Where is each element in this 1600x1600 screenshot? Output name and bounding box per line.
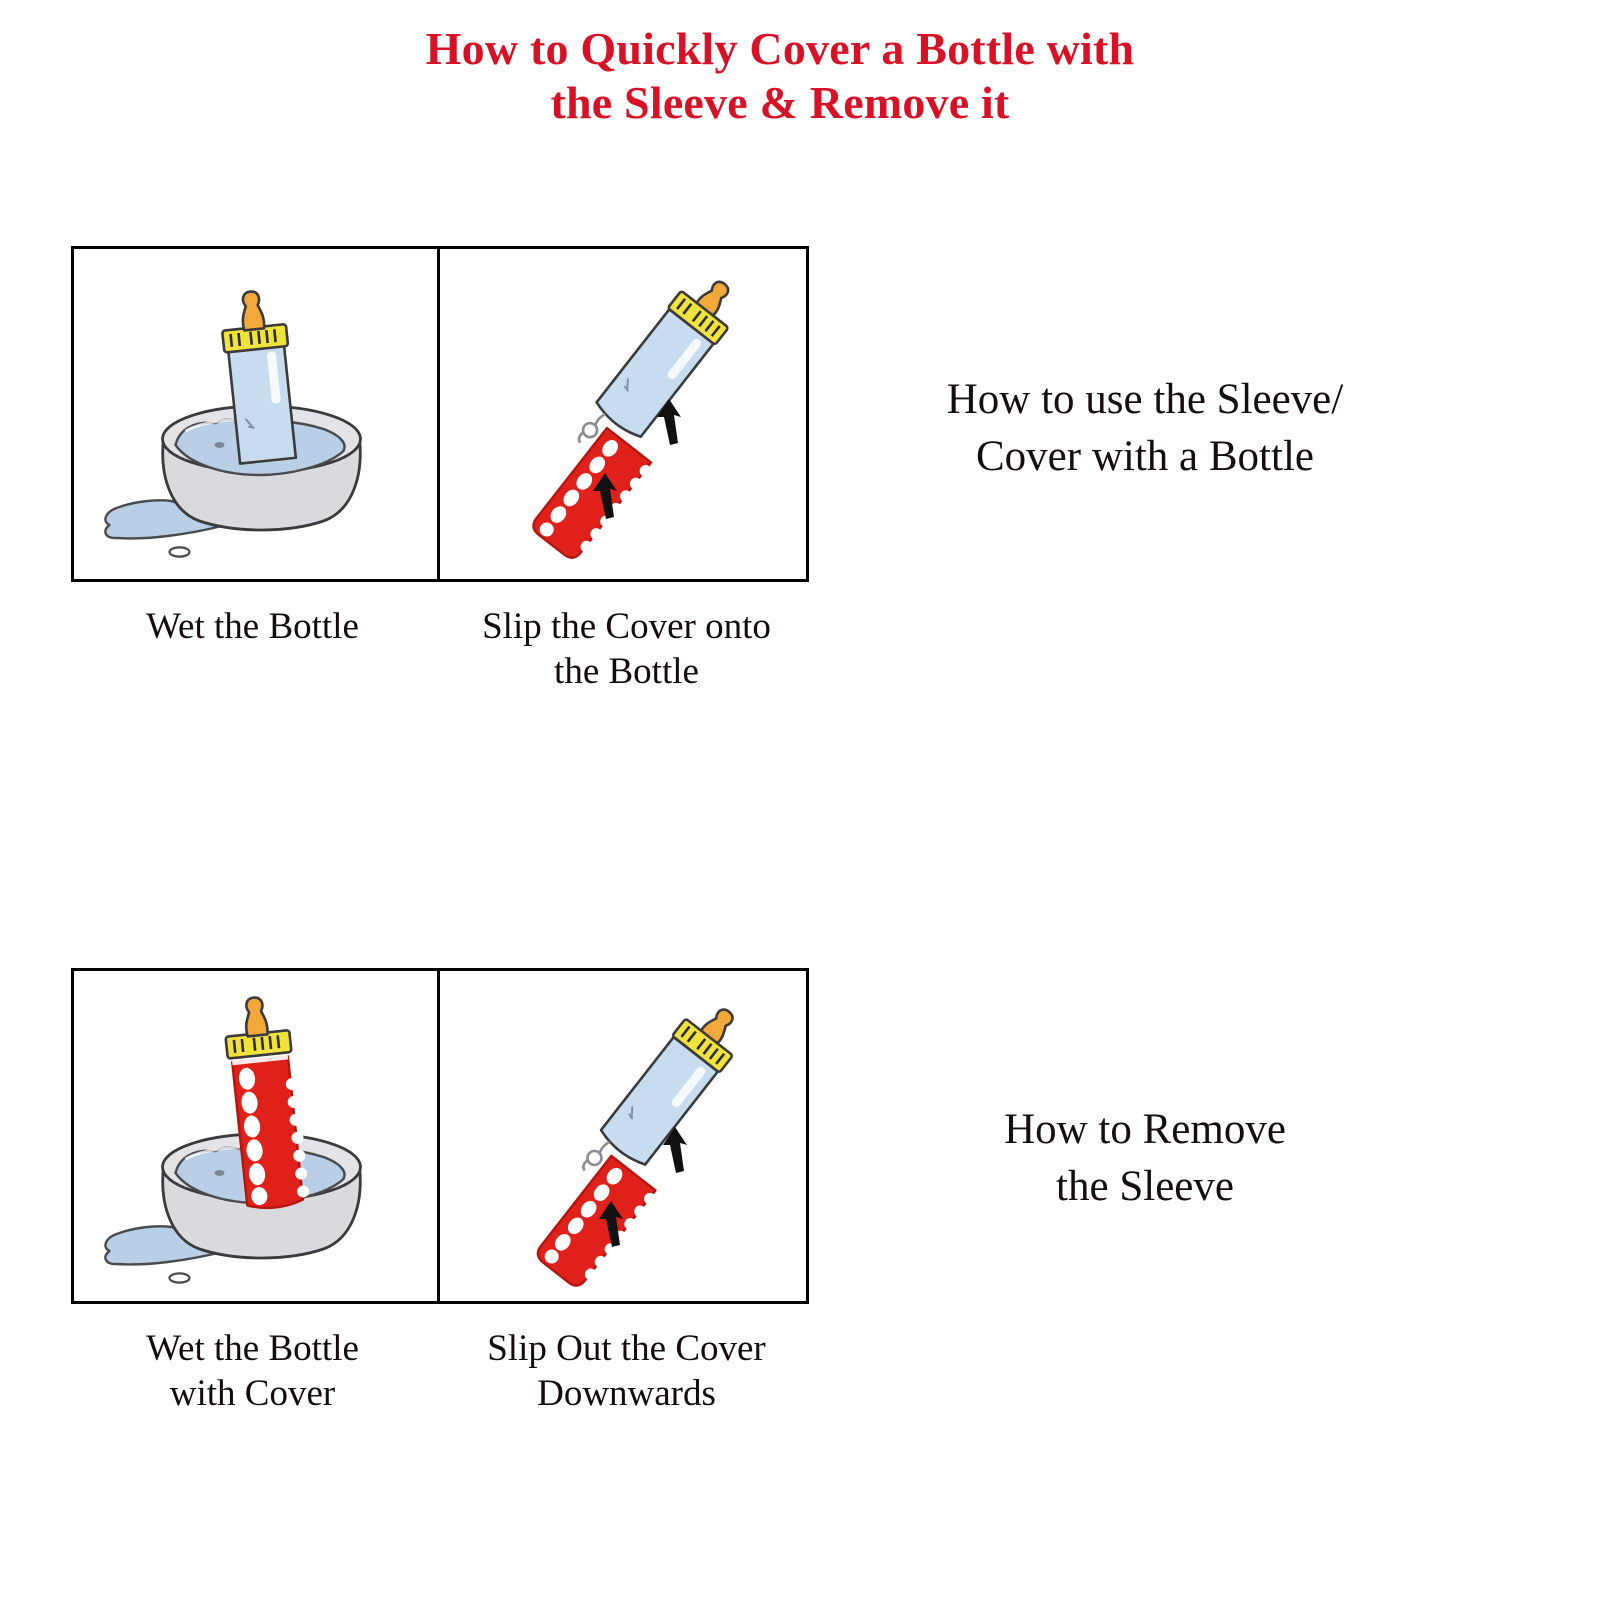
section-heading-line-1: How to Remove [905,1102,1385,1159]
caption-line-2: with Cover [71,1371,434,1416]
panel-wet-the-bottle [74,249,440,579]
water-droplet [170,547,190,556]
tilted-bottle-group [509,266,771,567]
bottle-nipple [243,997,268,1037]
caption-line-1: Slip the Cover onto [444,604,809,649]
caption-row-remove-sleeve: Wet the Bottle with Cover Slip Out the C… [71,1326,809,1416]
panel-slip-cover-on [440,249,806,579]
panel-frame-remove-sleeve [71,968,809,1304]
caption-slip-cover-out: Slip Out the Cover Downwards [440,1326,809,1416]
section-heading-remove-sleeve: How to Remove the Sleeve [905,1102,1385,1216]
caption-wet-the-bottle: Wet the Bottle [71,604,440,694]
illustration-tilted-bottle-with-sleeve-arrows-up [440,249,806,579]
panel-frame-use-sleeve [71,246,809,582]
bottle-body [228,344,296,463]
red-sleeve [529,428,656,566]
illustration-sleeved-bottle-in-water-bowl [74,971,437,1301]
section-heading-line-1: How to use the Sleeve/ [865,372,1425,429]
sleeve-body [534,1156,656,1290]
caption-line-1: Wet the Bottle [71,604,434,649]
water-droplet [170,1273,190,1282]
page-title: How to Quickly Cover a Bottle with the S… [0,22,1560,131]
panel-wet-bottle-with-cover [74,971,440,1301]
section-heading-line-2: Cover with a Bottle [865,429,1425,486]
sleeve-body [529,428,651,562]
section-heading-line-2: the Sleeve [905,1159,1385,1216]
caption-line-2: the Bottle [444,649,809,694]
page-title-line-1: How to Quickly Cover a Bottle with [0,22,1560,76]
bowl-speck-left [215,1170,225,1176]
bottle-nipple [240,290,265,330]
figure-block-remove-sleeve: Wet the Bottle with Cover Slip Out the C… [71,968,809,1416]
panel-slip-cover-out [440,971,806,1301]
page-title-line-2: the Sleeve & Remove it [0,76,1560,130]
illustration-tilted-bottle-with-sleeve-arrows-up [440,971,806,1301]
caption-row-use-sleeve: Wet the Bottle Slip the Cover onto the B… [71,604,809,694]
section-heading-use-sleeve: How to use the Sleeve/ Cover with a Bott… [865,372,1425,486]
bottle-body [598,1037,718,1168]
caption-line-1: Wet the Bottle [71,1326,434,1371]
caption-wet-bottle-with-cover: Wet the Bottle with Cover [71,1326,440,1416]
illustration-bottle-in-water-bowl [74,249,437,579]
bottle-body [594,309,714,440]
tilted-bottle-group [513,993,775,1294]
red-sleeve [534,1156,661,1294]
caption-line-1: Slip Out the Cover [444,1326,809,1371]
figure-block-use-sleeve: Wet the Bottle Slip the Cover onto the B… [71,246,809,694]
bowl-speck-left [215,442,225,448]
caption-slip-cover-on: Slip the Cover onto the Bottle [440,604,809,694]
caption-line-2: Downwards [444,1371,809,1416]
